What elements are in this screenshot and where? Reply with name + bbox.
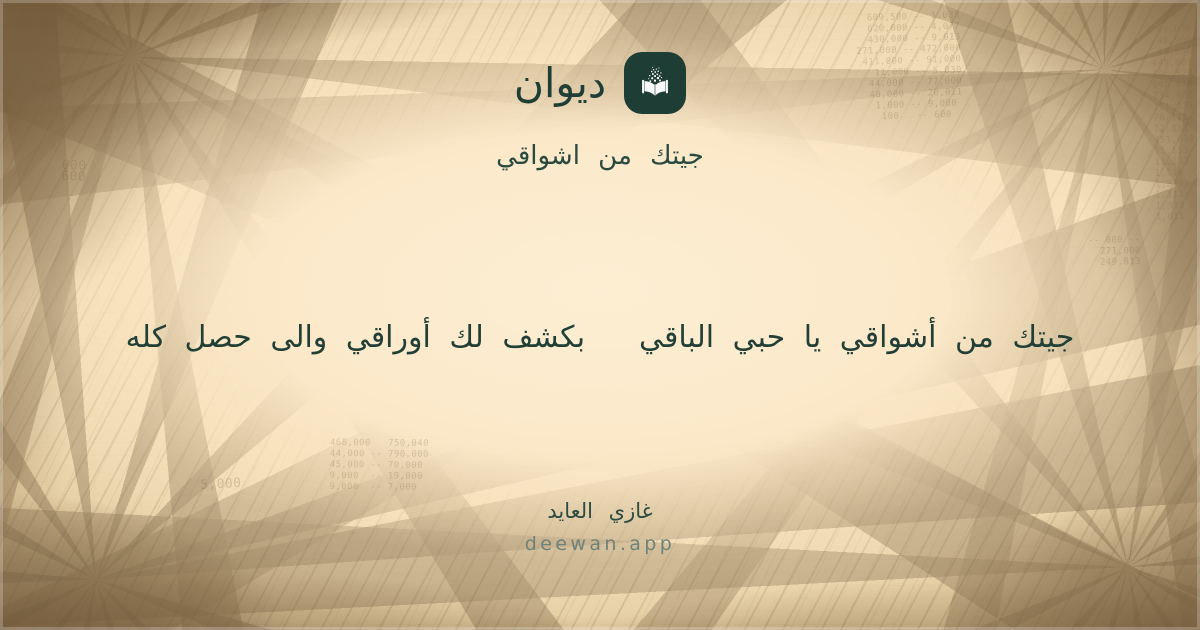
brand-name: ديوان xyxy=(514,63,606,104)
poem-share-card: 40,070 - 48,900 44,090 449,001 406,520 6… xyxy=(0,0,1200,630)
verse-hemistich-left: بكشف لك أوراقي والى حصل كله xyxy=(126,320,585,355)
card-content: ديوان جيتك من اشواقي جيتك من أشواقي يا ح… xyxy=(0,0,1200,630)
site-url: deewan.app xyxy=(0,533,1200,556)
card-footer: غازي العايد deewan.app xyxy=(0,498,1200,556)
brand-lockup: ديوان xyxy=(514,52,686,114)
open-book-sparkles-icon xyxy=(635,63,675,103)
verse-line: جيتك من أشواقي يا حبي الباقيبكشف لك أورا… xyxy=(126,319,1075,357)
deewan-logo-tile xyxy=(624,52,686,114)
poem-author: غازي العايد xyxy=(0,498,1200,524)
verse-hemistich-right: جيتك من أشواقي يا حبي الباقي xyxy=(639,320,1074,355)
poem-title: جيتك من اشواقي xyxy=(496,140,704,174)
verse-container: جيتك من أشواقي يا حبي الباقيبكشف لك أورا… xyxy=(0,300,1200,376)
